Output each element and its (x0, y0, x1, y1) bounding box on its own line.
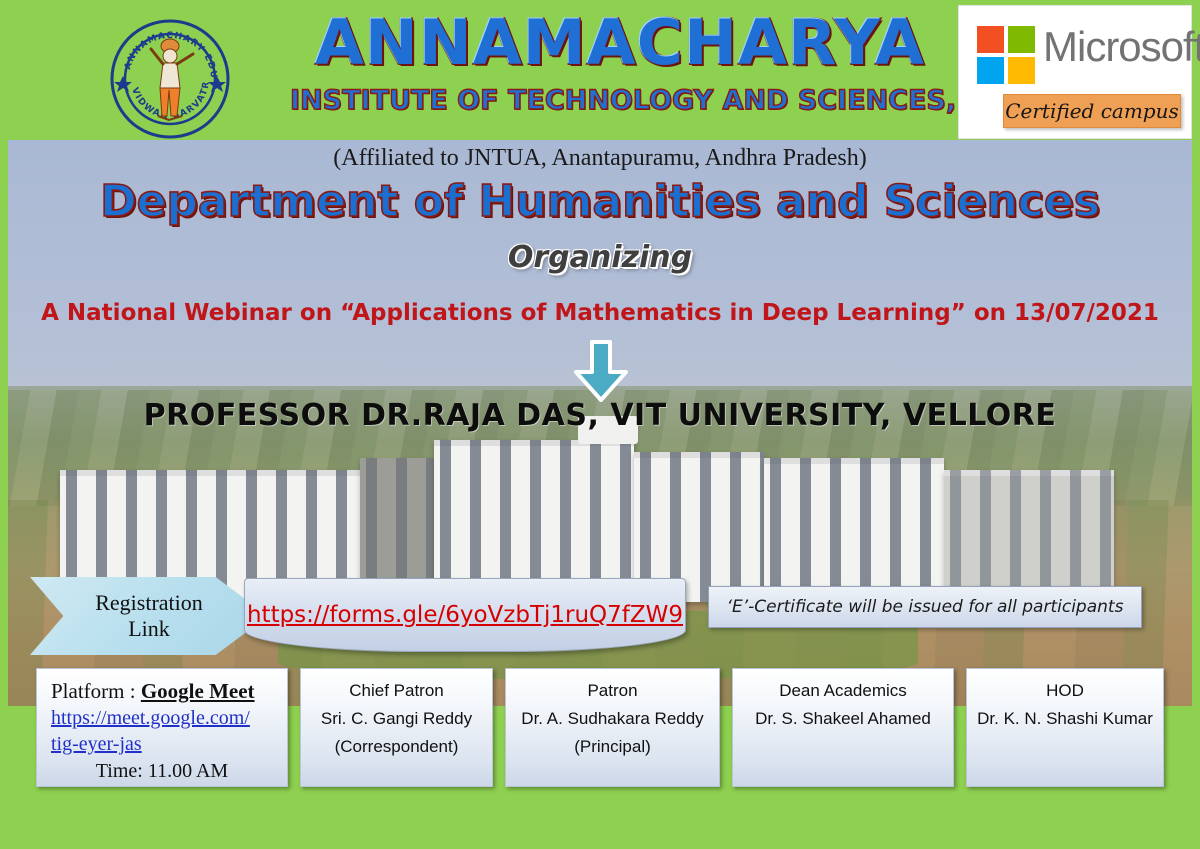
institute-subtitle: INSTITUTE OF TECHNOLOGY AND SCIENCES, KA… (290, 86, 950, 116)
platform-value: Google Meet (141, 679, 255, 703)
person-name: Dr. S. Shakeel Ahamed (739, 705, 947, 733)
person-box-patron: Patron Dr. A. Sudhakara Reddy (Principal… (505, 668, 720, 787)
person-note: (Correspondent) (307, 733, 486, 761)
campus-building-far-right (944, 470, 1114, 600)
microsoft-wordmark: Microsoft (1043, 23, 1200, 71)
registration-url-ribbon[interactable]: https://forms.gle/6yoVzbTj1ruQ7fZW9 (244, 578, 686, 652)
person-role: Dean Academics (739, 677, 947, 705)
organizing-label: Organizing (8, 240, 1192, 275)
certified-campus-banner: Certified campus (1003, 94, 1181, 128)
registration-label-line2: Link (128, 616, 170, 642)
meet-url-link-part2[interactable]: tig-eyer-jas (51, 733, 142, 755)
meet-url-line1[interactable]: https://meet.google.com/ (43, 705, 281, 731)
microsoft-certified-badge: Microsoft Certified campus (958, 5, 1192, 139)
trust-emblem-logo: ANNAMACHARY EDUCATIONAL TRUST VIDWAN SAR… (103, 16, 237, 142)
campus-photo-background: (Affiliated to JNTUA, Anantapuramu, Andh… (8, 140, 1192, 706)
person-name: Dr. K. N. Shashi Kumar (973, 705, 1157, 733)
person-role: Patron (512, 677, 713, 705)
person-name: Dr. A. Sudhakara Reddy (512, 705, 713, 733)
down-arrow-icon (570, 340, 632, 402)
meet-url-link-part1[interactable]: https://meet.google.com/ (51, 707, 250, 729)
platform-box: Platform : Google Meet https://meet.goog… (36, 668, 288, 787)
ecertificate-note-text: ‘E’-Certificate will be issued for all p… (727, 597, 1124, 617)
platform-label: Platform : (51, 679, 141, 703)
department-title: Department of Humanities and Sciences (8, 178, 1192, 226)
bottom-info-boxes: Platform : Google Meet https://meet.goog… (0, 668, 1200, 793)
person-name: Sri. C. Gangi Reddy (307, 705, 486, 733)
person-role: Chief Patron (307, 677, 486, 705)
poster-header: ANNAMACHARY EDUCATIONAL TRUST VIDWAN SAR… (0, 0, 1200, 140)
ecertificate-note-banner: ‘E’-Certificate will be issued for all p… (708, 586, 1142, 628)
person-box-chief-patron: Chief Patron Sri. C. Gangi Reddy (Corres… (300, 668, 493, 787)
person-box-hod: HOD Dr. K. N. Shashi Kumar (966, 668, 1164, 787)
person-role: HOD (973, 677, 1157, 705)
registration-url-link[interactable]: https://forms.gle/6yoVzbTj1ruQ7fZW9 (247, 602, 683, 628)
affiliation-text: (Affiliated to JNTUA, Anantapuramu, Andh… (8, 145, 1192, 172)
platform-line: Platform : Google Meet (43, 677, 281, 705)
microsoft-logo-icon (977, 26, 1035, 84)
meet-url-line2[interactable]: tig-eyer-jas (43, 731, 281, 757)
webinar-time: Time: 11.00 AM (43, 757, 281, 785)
person-note: (Principal) (512, 733, 713, 761)
webinar-poster: ANNAMACHARY EDUCATIONAL TRUST VIDWAN SAR… (0, 0, 1200, 849)
webinar-title: A National Webinar on “Applications of M… (8, 300, 1192, 326)
speaker-name: PROFESSOR DR.RAJA DAS, VIT UNIVERSITY, V… (8, 398, 1192, 433)
registration-label-line1: Registration (95, 590, 203, 616)
person-box-dean-academics: Dean Academics Dr. S. Shakeel Ahamed (732, 668, 954, 787)
institute-name: ANNAMACHARYA (283, 12, 956, 74)
